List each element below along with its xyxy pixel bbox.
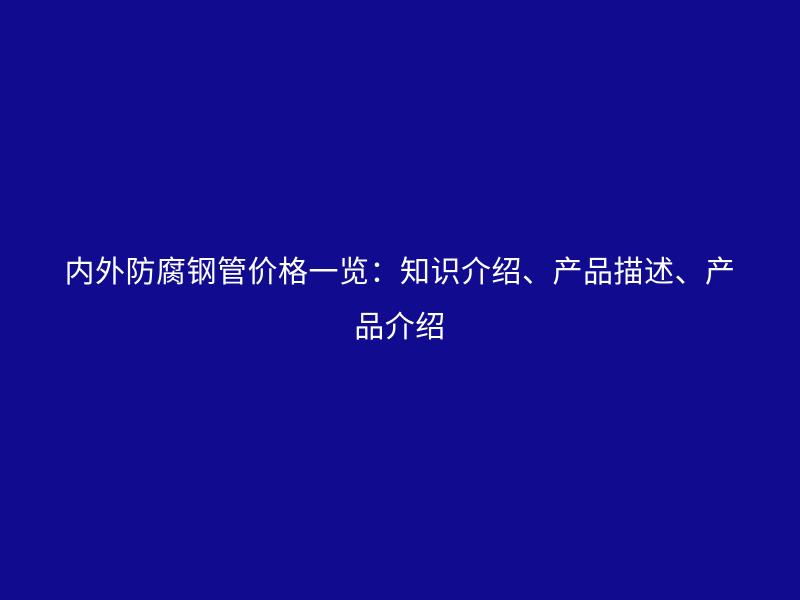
title-block: 内外防腐钢管价格一览：知识介绍、产品描述、产品介绍 (50, 245, 750, 355)
slide-canvas: 内外防腐钢管价格一览：知识介绍、产品描述、产品介绍 (0, 0, 800, 600)
page-title: 内外防腐钢管价格一览：知识介绍、产品描述、产品介绍 (50, 245, 750, 355)
